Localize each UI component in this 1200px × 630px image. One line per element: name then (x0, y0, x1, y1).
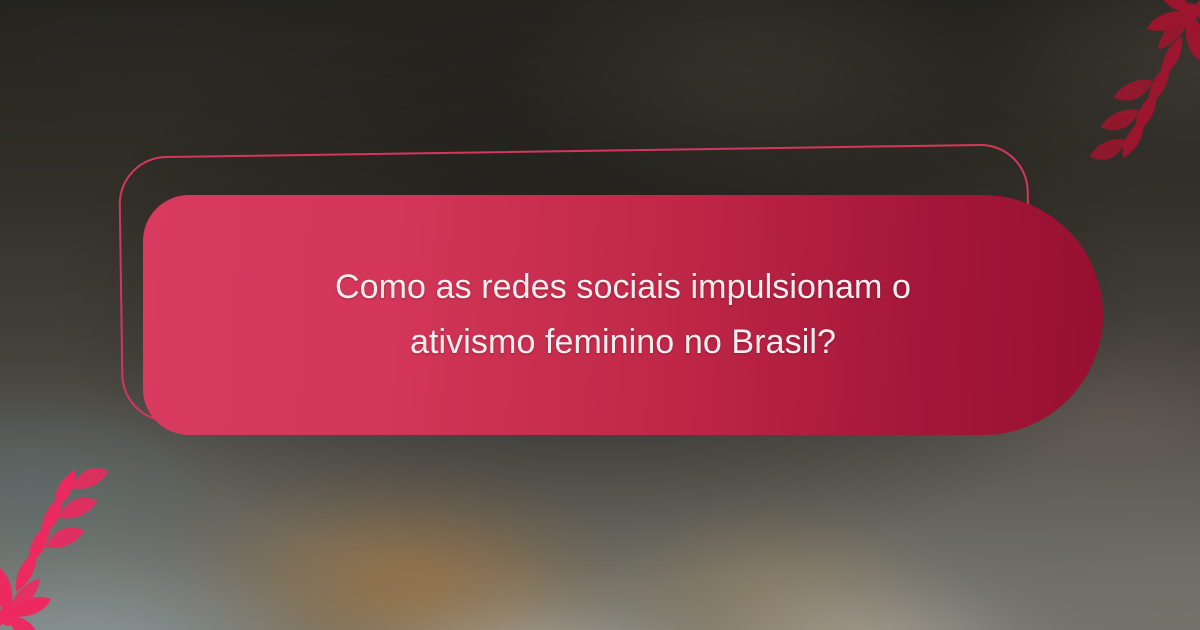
social-quote-card-image: Como as redes sociais impulsionam o ativ… (0, 0, 1200, 630)
quote-card: Como as redes sociais impulsionam o ativ… (143, 195, 1103, 435)
quote-question-text: Como as redes sociais impulsionam o ativ… (273, 260, 973, 370)
